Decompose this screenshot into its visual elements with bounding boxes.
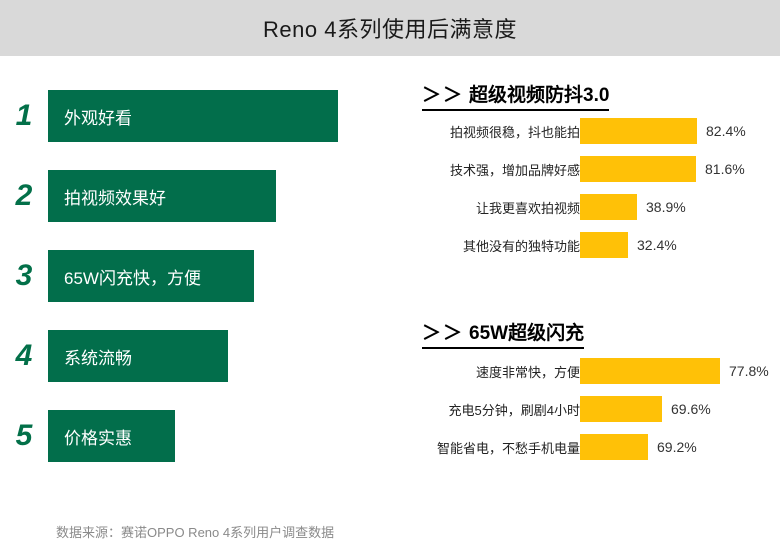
- chart-bar-row: 拍视频很稳，抖也能拍82.4%: [400, 116, 780, 146]
- ranking-list: 1外观好看2拍视频效果好365W闪充快，方便4系统流畅5价格实惠: [0, 56, 400, 496]
- chart-bar-fill: [580, 118, 697, 144]
- ranking-item-box: 价格实惠: [48, 410, 175, 462]
- chart-bar-holder: 速度非常快，方便77.8%: [580, 356, 769, 386]
- chart-section-heading-text: 65W超级闪充: [469, 323, 584, 344]
- data-source-note: 数据来源：赛诺OPPO Reno 4系列用户调查数据: [56, 522, 334, 541]
- ranking-item-label: 拍视频效果好: [64, 184, 166, 209]
- chart-section-title: ＞＞65W超级闪充: [422, 318, 584, 349]
- ranking-item-number: 4: [0, 341, 48, 371]
- ranking-item-label: 系统流畅: [64, 344, 132, 369]
- chart-bar-category-label: 其他没有的独特功能: [463, 236, 580, 255]
- chart-bar-row: 充电5分钟，刷剧4小时69.6%: [400, 394, 780, 424]
- chart-bar-value-label: 81.6%: [705, 161, 745, 177]
- header-band: Reno 4系列使用后满意度: [0, 0, 780, 56]
- ranking-item-box: 65W闪充快，方便: [48, 250, 254, 302]
- ranking-item-number: 5: [0, 421, 48, 451]
- ranking-item-box: 外观好看: [48, 90, 338, 142]
- ranking-item: 5价格实惠: [0, 410, 175, 462]
- ranking-item-number: 3: [0, 261, 48, 291]
- chart-bar-category-label: 智能省电，不愁手机电量: [437, 438, 580, 457]
- chart-bar-fill: [580, 358, 720, 384]
- chart-section-heading-text: 超级视频防抖3.0: [469, 85, 609, 106]
- chart-bar-row: 速度非常快，方便77.8%: [400, 356, 780, 386]
- chart-section-title: ＞＞超级视频防抖3.0: [422, 80, 609, 111]
- chart-bar-fill: [580, 194, 637, 220]
- chart-bar-value-label: 82.4%: [706, 123, 746, 139]
- chart-bar-category-label: 技术强，增加品牌好感: [450, 160, 580, 179]
- chart-bar-holder: 技术强，增加品牌好感81.6%: [580, 154, 745, 184]
- chart-bar-fill: [580, 156, 696, 182]
- chart-bar-value-label: 32.4%: [637, 237, 677, 253]
- chart-bar-value-label: 77.8%: [729, 363, 769, 379]
- ranking-item: 1外观好看: [0, 90, 338, 142]
- ranking-item-number: 2: [0, 181, 48, 211]
- page-title: Reno 4系列使用后满意度: [263, 12, 517, 44]
- chart-bar-category-label: 让我更喜欢拍视频: [476, 198, 580, 217]
- chart-bar-fill: [580, 232, 628, 258]
- chart-area: ＞＞超级视频防抖3.0拍视频很稳，抖也能拍82.4%技术强，增加品牌好感81.6…: [400, 56, 780, 496]
- chart-bar-holder: 让我更喜欢拍视频38.9%: [580, 192, 686, 222]
- chart-bar-value-label: 38.9%: [646, 199, 686, 215]
- ranking-item-number: 1: [0, 101, 48, 131]
- chart-bar-value-label: 69.2%: [657, 439, 697, 455]
- ranking-item-label: 外观好看: [64, 104, 132, 129]
- ranking-item: 365W闪充快，方便: [0, 250, 254, 302]
- chart-bar-holder: 拍视频很稳，抖也能拍82.4%: [580, 116, 746, 146]
- chart-bar-category-label: 充电5分钟，刷剧4小时: [449, 400, 580, 419]
- chart-bar-fill: [580, 434, 648, 460]
- ranking-item-label: 65W闪充快，方便: [64, 264, 201, 289]
- ranking-item: 4系统流畅: [0, 330, 228, 382]
- double-chevron-right-icon: ＞＞: [422, 85, 464, 106]
- ranking-item: 2拍视频效果好: [0, 170, 276, 222]
- chart-bar-holder: 其他没有的独特功能32.4%: [580, 230, 677, 260]
- chart-bar-category-label: 拍视频很稳，抖也能拍: [450, 122, 580, 141]
- chart-bar-holder: 智能省电，不愁手机电量69.2%: [580, 432, 697, 462]
- chart-bar-category-label: 速度非常快，方便: [476, 362, 580, 381]
- chart-bar-row: 技术强，增加品牌好感81.6%: [400, 154, 780, 184]
- ranking-item-box: 拍视频效果好: [48, 170, 276, 222]
- double-chevron-right-icon: ＞＞: [422, 323, 464, 344]
- chart-bar-fill: [580, 396, 662, 422]
- chart-bar-value-label: 69.6%: [671, 401, 711, 417]
- chart-bar-row: 让我更喜欢拍视频38.9%: [400, 192, 780, 222]
- chart-bar-holder: 充电5分钟，刷剧4小时69.6%: [580, 394, 711, 424]
- chart-bar-row: 其他没有的独特功能32.4%: [400, 230, 780, 260]
- chart-bar-row: 智能省电，不愁手机电量69.2%: [400, 432, 780, 462]
- ranking-item-label: 价格实惠: [64, 424, 132, 449]
- ranking-item-box: 系统流畅: [48, 330, 228, 382]
